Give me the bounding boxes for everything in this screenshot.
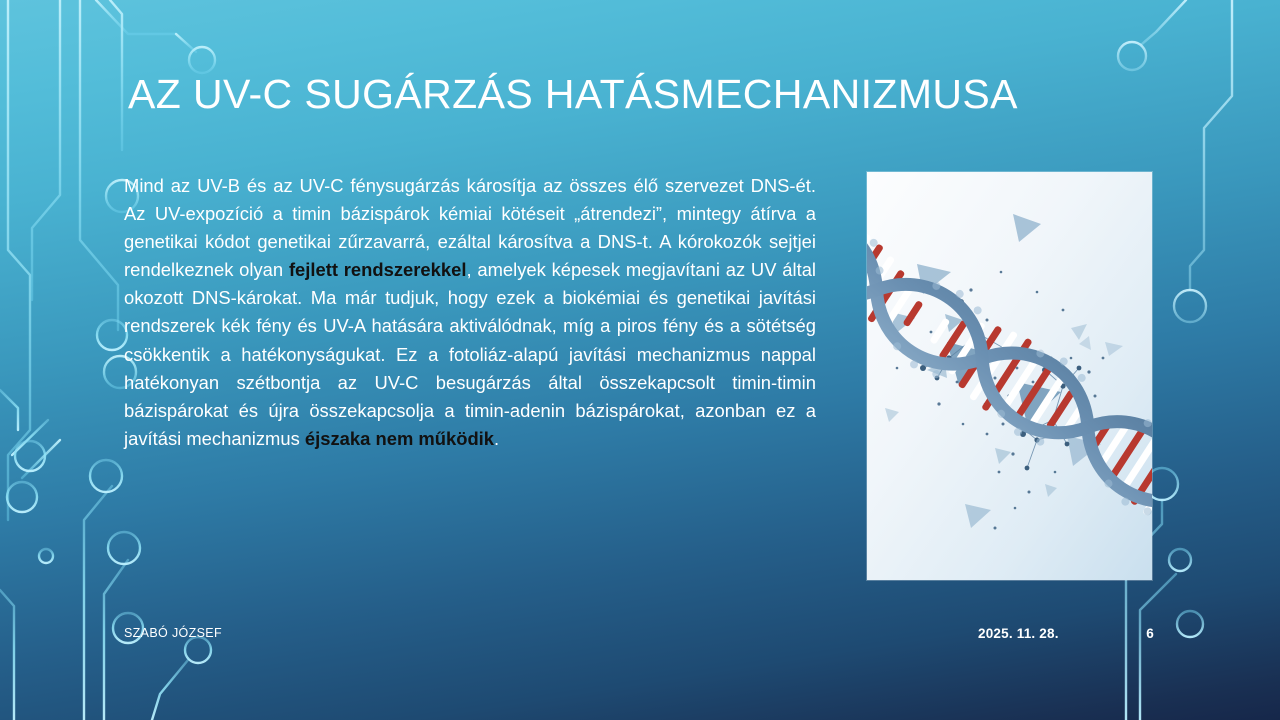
footer-date: 2025. 11. 28. [978, 626, 1059, 641]
body-segment: , amelyek képesek megjavítani az UV álta… [124, 259, 816, 449]
footer-page-number: 6 [1138, 626, 1162, 641]
footer-author: SZABÓ JÓZSEF [124, 626, 222, 640]
body-segment-bold: éjszaka nem működik [305, 428, 494, 449]
body-paragraph: Mind az UV-B és az UV-C fénysugárzás kár… [124, 172, 816, 453]
dna-illustration [867, 172, 1152, 580]
body-segment: . [494, 428, 499, 449]
body-segment-bold: fejlett rendszerekkel [289, 259, 467, 280]
page-title: AZ UV-C SUGÁRZÁS HATÁSMECHANIZMUSA [128, 71, 1138, 118]
slide: AZ UV-C SUGÁRZÁS HATÁSMECHANIZMUSA Mind … [0, 0, 1280, 720]
